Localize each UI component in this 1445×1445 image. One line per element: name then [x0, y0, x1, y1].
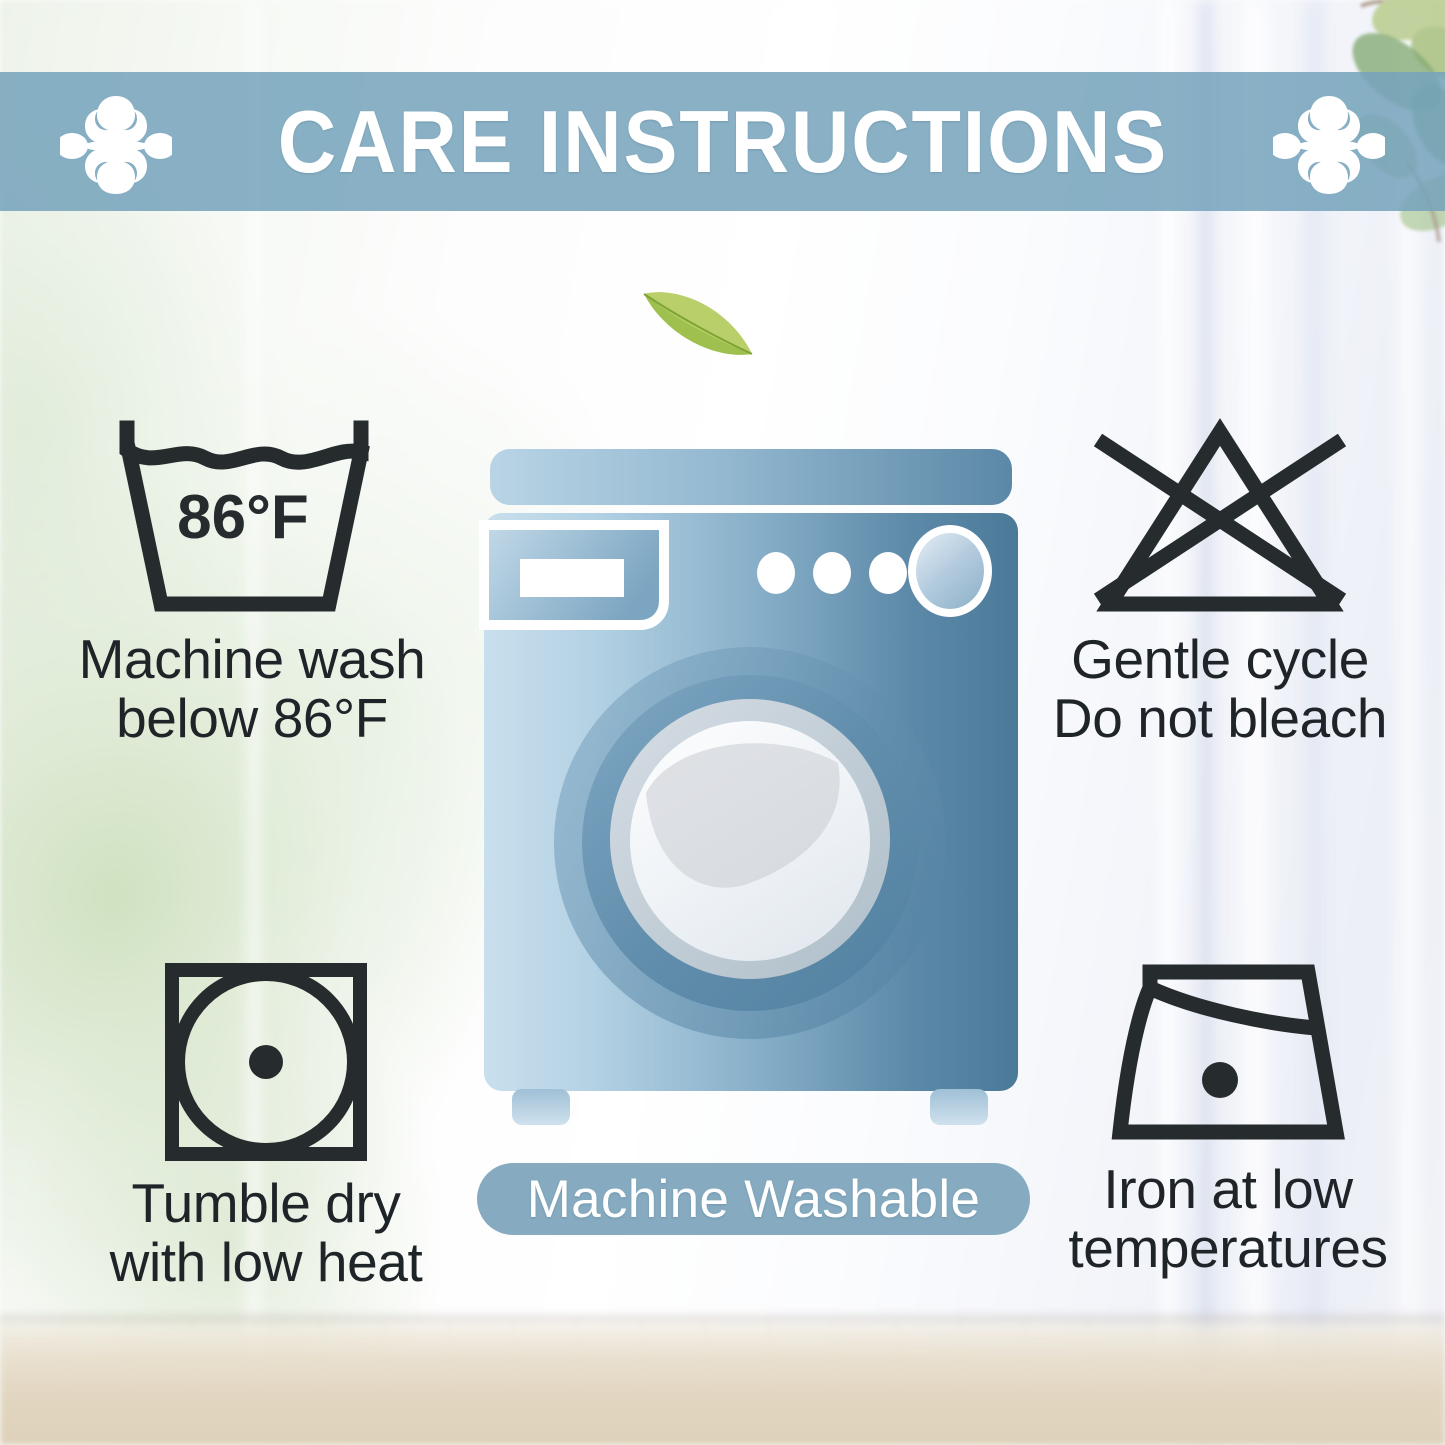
- no-bleach-triangle-icon: [1078, 418, 1362, 618]
- wooden-table-surface: [0, 1317, 1445, 1445]
- indicator-light: [869, 552, 907, 594]
- washer-top-lid: [490, 449, 1012, 505]
- care-symbol-caption: Gentle cycle Do not bleach: [1053, 630, 1387, 749]
- care-symbol-caption: Tumble dry with low heat: [110, 1174, 423, 1293]
- detergent-drawer-slot: [520, 559, 624, 597]
- iron-low-icon: [1098, 962, 1358, 1148]
- green-leaf-icon: [636, 272, 760, 372]
- indicator-light: [757, 552, 795, 594]
- care-symbol-machine-wash: 86°F Machine wash below 86°F: [42, 418, 462, 749]
- badge-label: Machine Washable: [527, 1169, 981, 1230]
- low-heat-dot: [249, 1045, 283, 1079]
- machine-washable-badge: Machine Washable: [477, 1163, 1030, 1235]
- wash-tub-icon: 86°F: [109, 418, 395, 618]
- washer-foot: [930, 1089, 988, 1125]
- dial-knob[interactable]: [916, 533, 984, 609]
- care-symbol-iron: Iron at low temperatures: [1018, 962, 1438, 1279]
- low-temperature-dot: [1202, 1062, 1238, 1098]
- wash-temperature-value: 86°F: [177, 483, 309, 552]
- fleur-de-lis-icon: [60, 90, 172, 194]
- fleur-de-lis-icon: [1273, 90, 1385, 194]
- indicator-light: [813, 552, 851, 594]
- care-symbol-tumble-dry: Tumble dry with low heat: [56, 962, 476, 1293]
- care-symbol-caption: Iron at low temperatures: [1068, 1160, 1387, 1279]
- washer-foot: [512, 1089, 570, 1125]
- care-symbol-caption: Machine wash below 86°F: [79, 630, 426, 749]
- washing-machine-illustration: [478, 443, 1024, 1133]
- care-symbol-do-not-bleach: Gentle cycle Do not bleach: [1010, 418, 1430, 749]
- page-title: CARE INSTRUCTIONS: [277, 91, 1167, 193]
- tumble-dry-low-icon: [156, 962, 376, 1162]
- header-banner: CARE INSTRUCTIONS: [0, 72, 1445, 211]
